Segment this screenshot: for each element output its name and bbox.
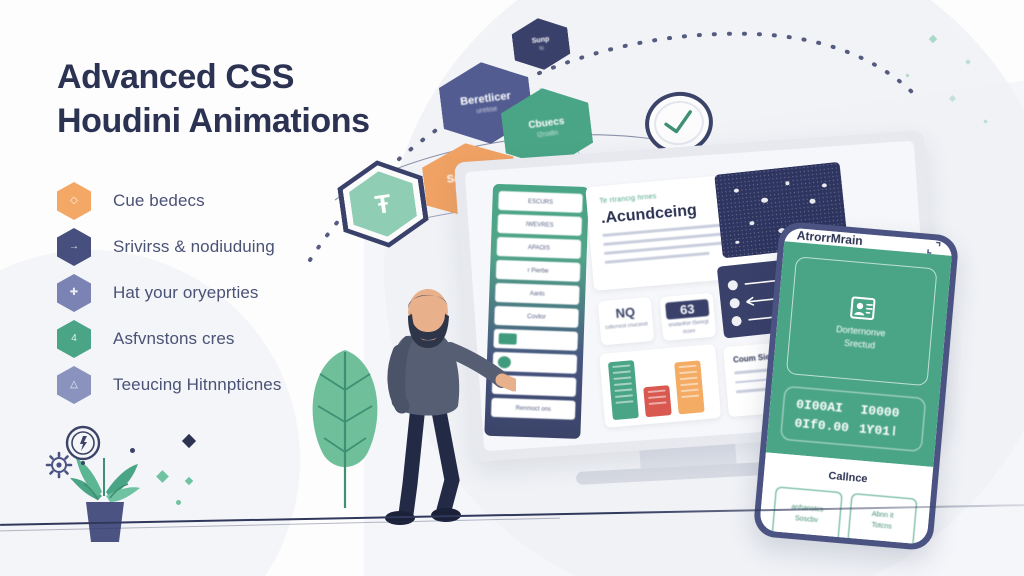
phone-hero-section: Dorternonve Srectud 0I00AI I0000 0If0.00… (766, 241, 952, 467)
badge-title: Beretlicer (460, 89, 512, 107)
badge-title: Sunp (531, 35, 549, 44)
mini-card-line-2: Soscbv (795, 515, 818, 524)
illustration-canvas: Advanced CSS Houdini Animations ◇ Cue be… (0, 0, 1024, 576)
sidebar-item[interactable]: IWEVRES (497, 214, 582, 236)
phone-bottom-section: Callnce anhanstcs Soscbv Abnn it Totcns (759, 452, 933, 544)
bar-chart (608, 352, 713, 420)
phone-section-title: Callnce (777, 465, 920, 489)
stat-card: NQ cobcrvcoi cnucsnot (598, 297, 655, 345)
stat-label: cobcrvcoi cnucsnot (605, 321, 648, 332)
phone-card-row: anhanstcs Soscbv Abnn it Totcns (772, 486, 918, 544)
award-badge-icon (62, 425, 104, 467)
stat-value: NQ (603, 303, 647, 322)
hash-hexagon-icon: Ŧ (334, 154, 431, 253)
list-item-label: Asfvnstons cres (113, 329, 235, 349)
phone-mini-card[interactable]: Abnn it Totcns (847, 493, 918, 545)
stat-card: 63 snutanKer tSenrgt riconr (660, 293, 717, 341)
tile-label-line-2: Srectud (844, 338, 876, 351)
phone-number: 0I00AI (796, 397, 852, 417)
stat-value: 63 (665, 299, 709, 320)
number-icon: 4 (57, 320, 91, 358)
badge-subtitle: uretise (476, 105, 498, 115)
sidebar-item[interactable]: APAOIS (497, 237, 582, 259)
tile-label-line-1: Dorternonve (836, 324, 886, 338)
decor-dot (176, 500, 181, 505)
bar-orange (674, 360, 704, 414)
expand-icon[interactable] (927, 240, 941, 254)
page-title-line-1: Advanced CSS (57, 58, 294, 96)
plus-icon: ✚ (57, 274, 91, 312)
arrow-icon: → (57, 228, 91, 266)
id-card-icon (847, 292, 880, 325)
diamond-icon: ◇ (57, 182, 91, 220)
sidebar-item[interactable]: ESCURS (498, 191, 583, 213)
list-item-label: Hat your oryeprties (113, 283, 259, 303)
list-item-label: Cue bedecs (113, 191, 205, 211)
id-card-tile[interactable]: Dorternonve Srectud (786, 256, 938, 386)
tree-illustration (290, 330, 400, 520)
badge-subtitle: l2roi8n (537, 130, 559, 140)
phone-number: I0000 (860, 403, 913, 422)
stat-label: snutanKer tSenrgt riconr (667, 319, 711, 338)
mini-card-line-1: Abnn it (871, 511, 893, 520)
triangle-icon: △ (57, 366, 91, 404)
hero-body-line (605, 252, 710, 264)
bar-chart-card (599, 344, 721, 428)
decor-dot (130, 448, 135, 453)
list-item-label: Teeucing Hitnnpticnes (113, 375, 281, 395)
bar-red (643, 385, 672, 417)
phone-number: 1Ƴ01ǀ (858, 421, 911, 440)
mini-card-line-2: Totcns (871, 522, 892, 531)
bar-green (608, 360, 639, 420)
phone-number: 0If0.00 (794, 416, 850, 436)
phone-screen: AtrorrMrain Dorternonve Srectud (759, 227, 953, 544)
phone-number-grid: 0I00AI I0000 0If0.00 1Ƴ01ǀ (780, 386, 926, 452)
phone-mini-card[interactable]: anhanstcs Soscbv (772, 486, 843, 542)
badge-subtitle: Ni (539, 45, 544, 52)
mobile-phone: AtrorrMrain Dorternonve Srectud (753, 221, 960, 551)
badge-title: Cbuecs (528, 116, 565, 131)
sidebar-item[interactable]: r Pierbe (496, 260, 581, 282)
list-item-label: Srivirss & nodiuduing (113, 237, 275, 257)
